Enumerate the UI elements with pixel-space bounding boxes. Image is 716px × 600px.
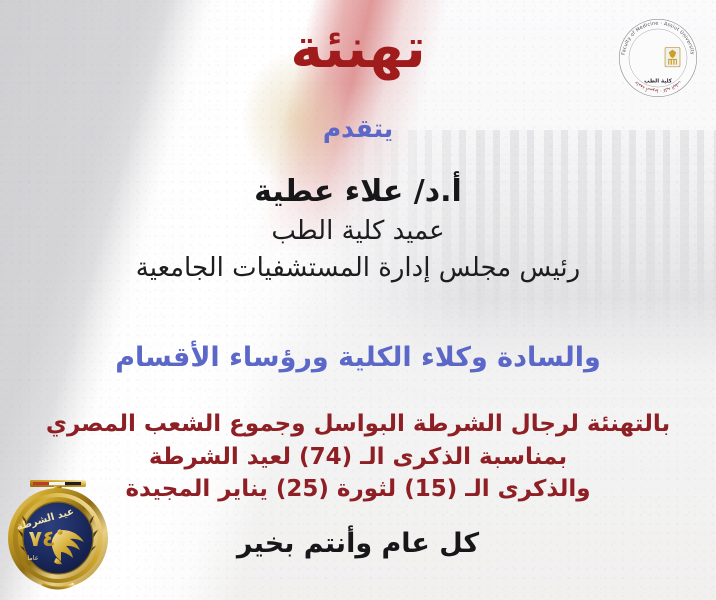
dean-name: أ.د/ علاء عطية: [0, 172, 716, 213]
message-line-1: بالتهنئة لرجال الشرطة البواسل وجموع الشع…: [0, 408, 716, 441]
poster-content: Faculty of Medicine · Assiut University …: [0, 0, 716, 600]
message-line-2: بمناسبة الذكرى الـ (74) لعيد الشرطة: [0, 441, 716, 474]
page-title: تهنئة: [0, 18, 716, 79]
dean-block: أ.د/ علاء عطية عميد كلية الطب رئيس مجلس …: [0, 172, 716, 288]
recipients-line: والسادة وكلاء الكلية ورؤساء الأقسام: [0, 342, 716, 373]
medal-years-label: عاما: [27, 554, 38, 562]
presents-label: يتقدم: [0, 114, 716, 143]
dean-title-line-1: عميد كلية الطب: [0, 213, 716, 251]
seal-inner-label: كلية الطب: [644, 78, 673, 85]
police-day-medal: عيد الشرطة ٧٤ عاما: [2, 472, 114, 592]
dean-title-line-2: رئيس مجلس إدارة المستشفيات الجامعية: [0, 250, 716, 288]
medal-number: ٧٤: [29, 527, 56, 552]
congratulations-poster: Faculty of Medicine · Assiut University …: [0, 0, 716, 600]
